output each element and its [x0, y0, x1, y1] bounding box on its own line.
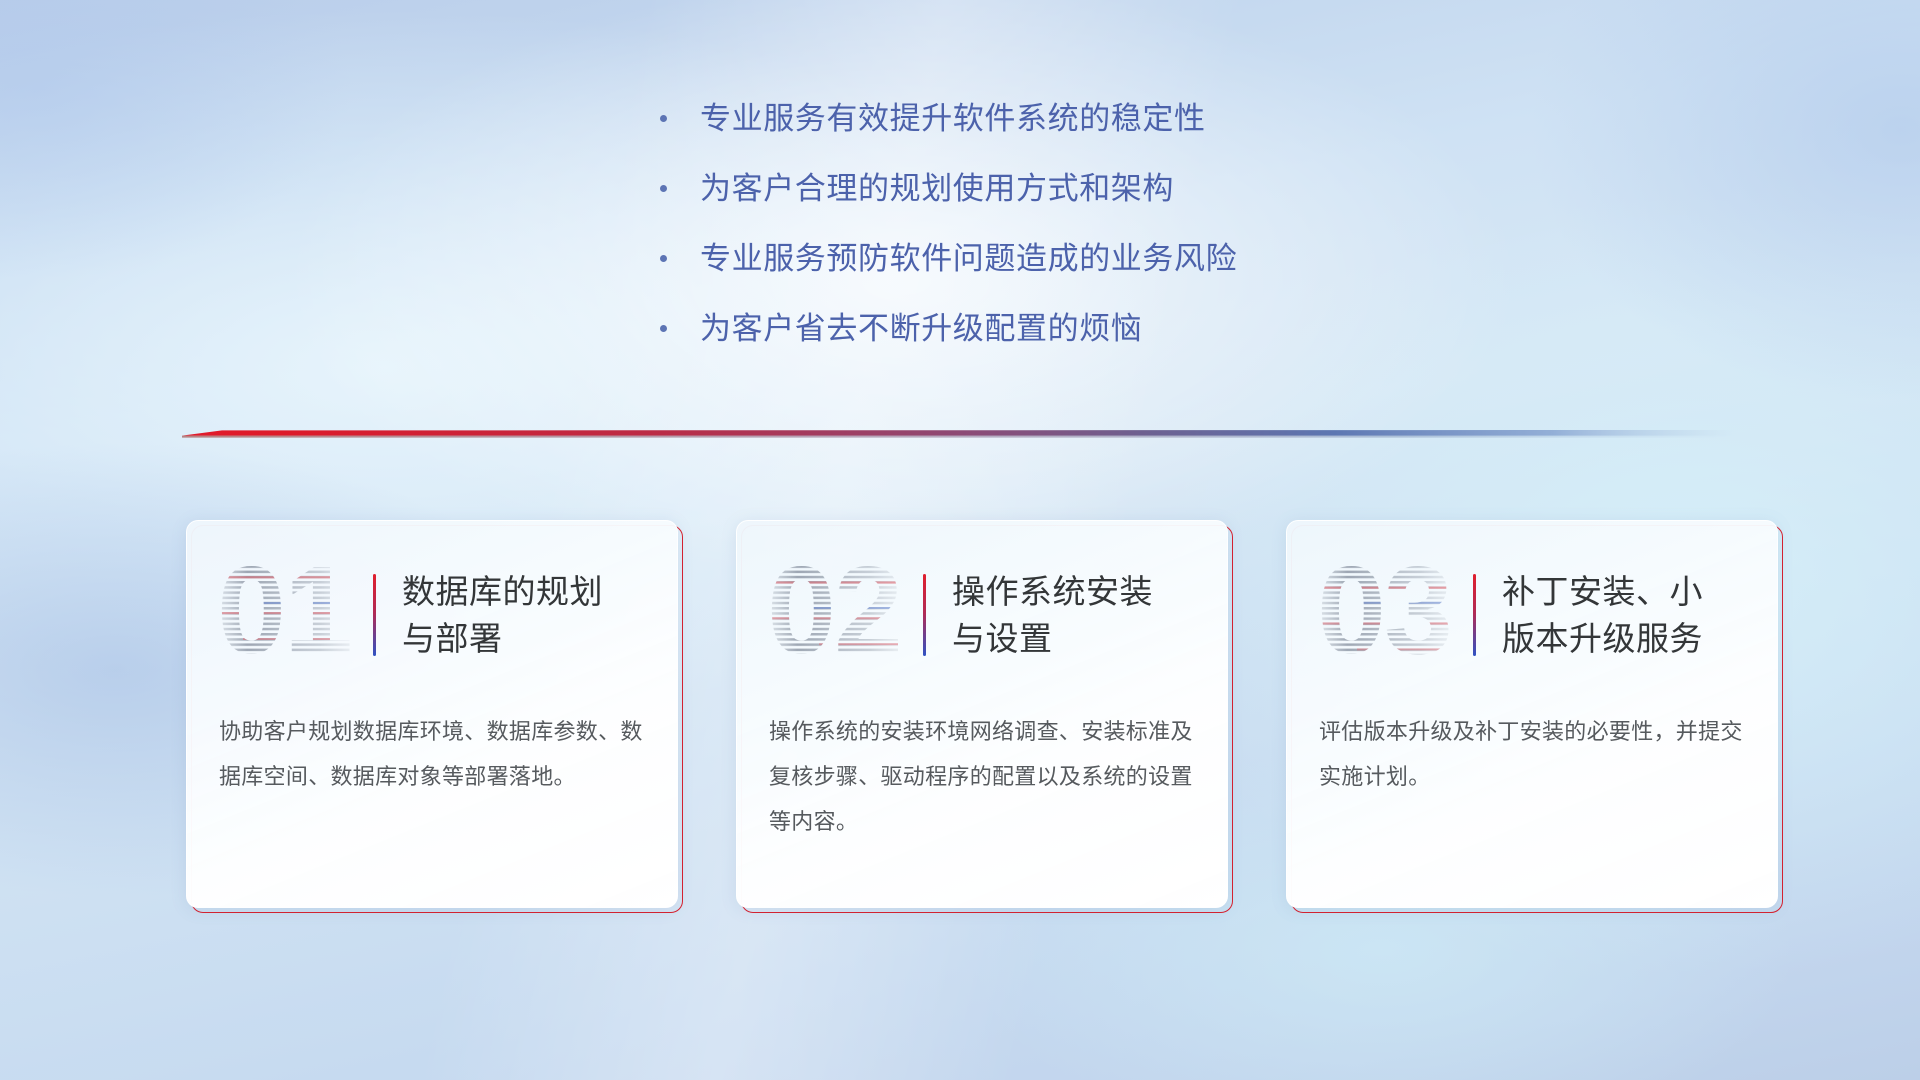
card-title-accent-bar — [1473, 574, 1476, 656]
bullet-label: 专业服务预防软件问题造成的业务风险 — [700, 238, 1237, 280]
card-number-glitch: 01 — [213, 555, 369, 675]
bullet-dot-icon — [660, 325, 667, 332]
bullet-label: 为客户合理的规划使用方式和架构 — [700, 168, 1174, 210]
bullet-dot-icon — [660, 115, 667, 122]
bullet-item: 为客户省去不断升级配置的烦恼 — [660, 308, 1237, 350]
card-header: 03 — [1287, 521, 1777, 709]
service-card-list: 01 — [0, 520, 1920, 908]
card-title: 操作系统安装 与设置 — [952, 568, 1153, 662]
card-title: 数据库的规划 与部署 — [402, 568, 603, 662]
bullet-dot-icon — [660, 255, 667, 262]
bullet-label: 为客户省去不断升级配置的烦恼 — [700, 308, 1142, 350]
card-surface: 03 — [1286, 520, 1778, 908]
service-card[interactable]: 02 — [736, 520, 1228, 908]
section-divider — [182, 424, 1740, 440]
card-number-glitch: 03 — [1313, 555, 1469, 675]
card-header: 02 — [737, 521, 1227, 709]
card-title-accent-bar — [923, 574, 926, 656]
bullet-dot-icon — [660, 185, 667, 192]
bullet-label: 专业服务有效提升软件系统的稳定性 — [700, 98, 1206, 140]
card-description: 协助客户规划数据库环境、数据库参数、数据库空间、数据库对象等部署落地。 — [187, 709, 677, 799]
card-description: 评估版本升级及补丁安装的必要性，并提交实施计划。 — [1287, 709, 1777, 799]
card-surface: 02 — [736, 520, 1228, 908]
card-surface: 01 — [186, 520, 678, 908]
card-title-accent-bar — [373, 574, 376, 656]
bullet-item: 为客户合理的规划使用方式和架构 — [660, 168, 1237, 210]
card-title: 补丁安装、小 版本升级服务 — [1502, 568, 1703, 662]
service-card[interactable]: 01 — [186, 520, 678, 908]
card-number-glitch: 02 — [763, 555, 919, 675]
service-card[interactable]: 03 — [1286, 520, 1778, 908]
card-description: 操作系统的安装环境网络调查、安装标准及复核步骤、驱动程序的配置以及系统的设置等内… — [737, 709, 1227, 844]
benefits-bullet-list: 专业服务有效提升软件系统的稳定性 为客户合理的规划使用方式和架构 专业服务预防软… — [660, 98, 1237, 378]
bullet-item: 专业服务预防软件问题造成的业务风险 — [660, 238, 1237, 280]
bullet-item: 专业服务有效提升软件系统的稳定性 — [660, 98, 1237, 140]
card-header: 01 — [187, 521, 677, 709]
